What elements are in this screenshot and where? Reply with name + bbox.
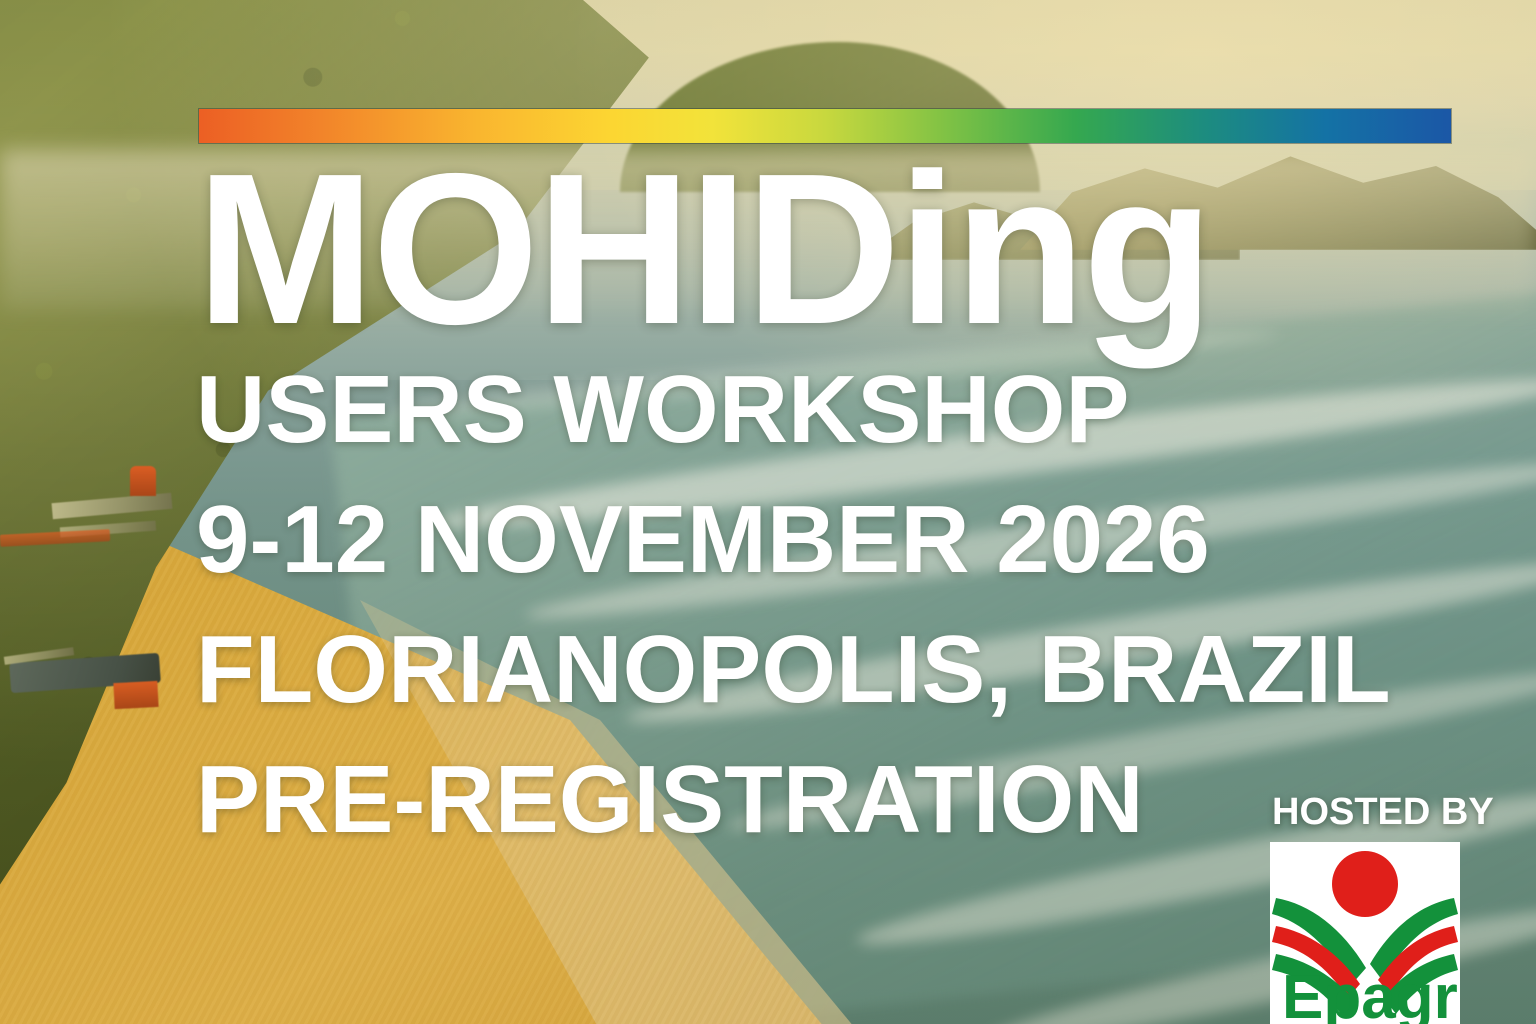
epagri-wordmark-text: Epagri	[1282, 963, 1460, 1024]
subtitle-users-workshop: USERS WORKSHOP	[196, 362, 1496, 458]
event-dates: 9-12 NOVEMBER 2026	[196, 492, 1496, 588]
poster-text-block: MOHIDing USERS WORKSHOP 9-12 NOVEMBER 20…	[196, 150, 1496, 848]
event-title: MOHIDing	[196, 150, 1496, 348]
hosted-by-label: HOSTED BY	[1272, 791, 1464, 834]
hosted-by-block: HOSTED BY Epagri	[1270, 791, 1464, 1024]
epagri-logo-svg: Epagri	[1270, 842, 1460, 1024]
epagri-logo: Epagri	[1270, 842, 1460, 1024]
event-location: FLORIANOPOLIS, BRAZIL	[196, 622, 1496, 718]
poster-canvas: MOHIDing USERS WORKSHOP 9-12 NOVEMBER 20…	[0, 0, 1536, 1024]
sun-icon	[1332, 851, 1398, 917]
